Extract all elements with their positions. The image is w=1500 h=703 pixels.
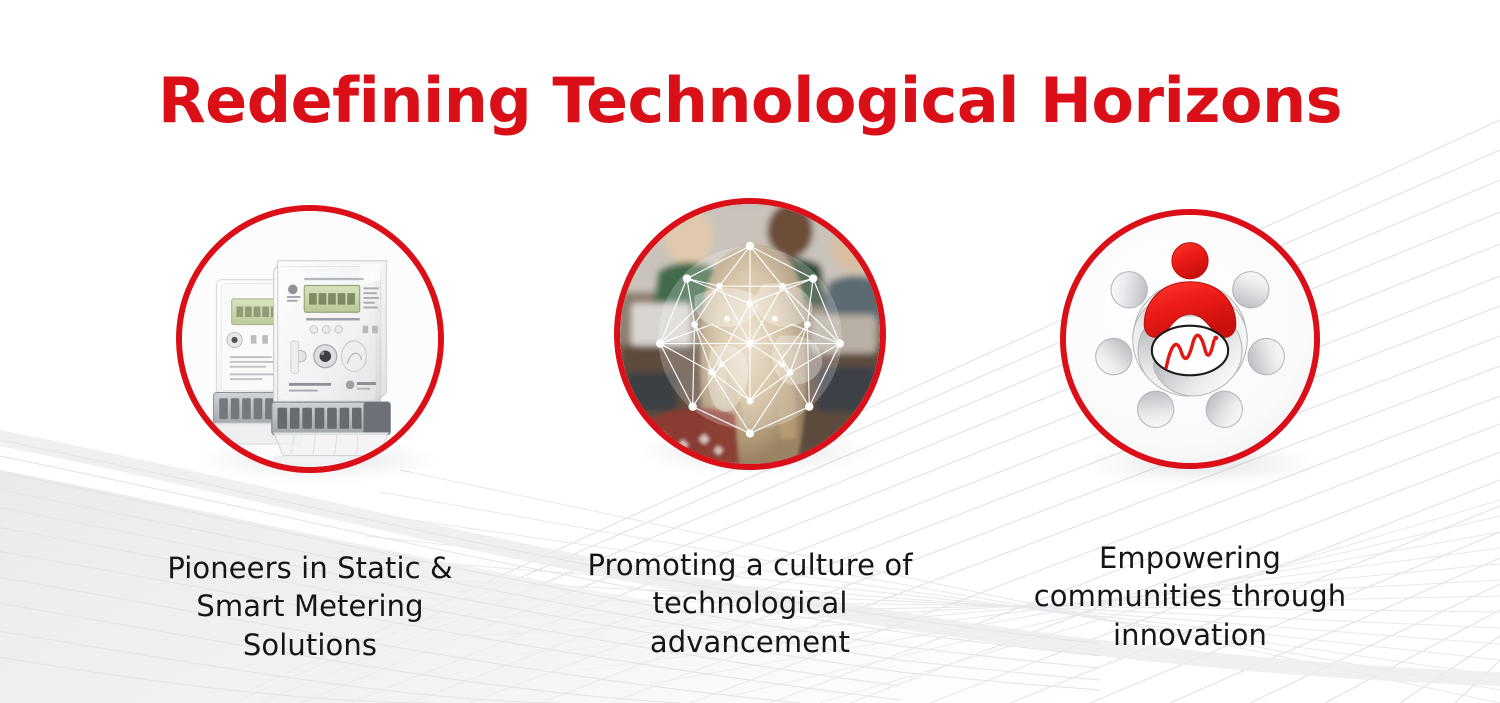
promo-banner: Redefining Technological Horizons [0, 0, 1500, 703]
circle-ring [614, 198, 886, 470]
network-globe-photo [620, 204, 880, 464]
meter-front [272, 261, 390, 456]
feature-card-metering[interactable]: Pioneers in Static & Smart Metering Solu… [90, 195, 530, 664]
meter-product-image [182, 211, 438, 467]
page-title: Redefining Technological Horizons [0, 68, 1500, 135]
circle-image-frame [614, 198, 886, 470]
feature-card-community[interactable]: Empowering communities through innovatio… [970, 195, 1410, 654]
circle-ring [1060, 209, 1320, 469]
feature-caption: Empowering communities through innovatio… [1010, 539, 1370, 654]
circle-image-frame [176, 205, 444, 473]
circle-image-frame [1060, 209, 1320, 469]
circle-ring [176, 205, 444, 473]
community-logo-image [1066, 215, 1314, 463]
waveform-emblem [1152, 326, 1228, 376]
feature-card-advancement[interactable]: Promoting a culture of technological adv… [530, 195, 970, 661]
feature-caption: Pioneers in Static & Smart Metering Solu… [130, 549, 490, 664]
feature-caption: Promoting a culture of technological adv… [570, 546, 930, 661]
feature-card-row: Pioneers in Static & Smart Metering Solu… [0, 195, 1500, 665]
